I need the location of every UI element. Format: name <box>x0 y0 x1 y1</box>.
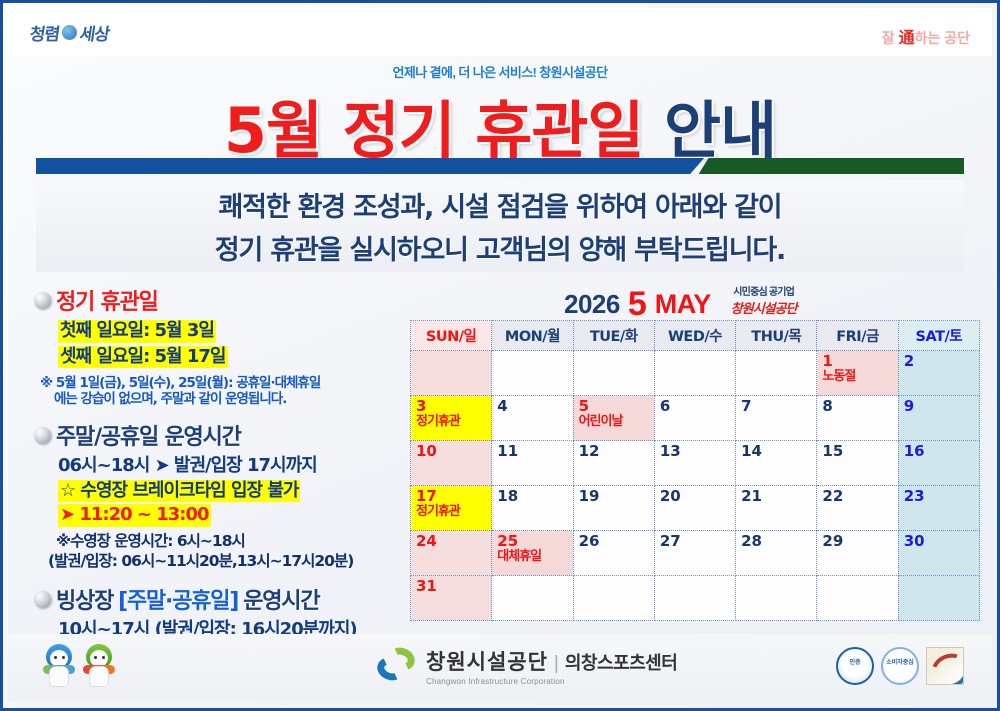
footer-org-name: 창원시설공단 <box>426 646 548 676</box>
section-regular-closure-heading-text: 정기 휴관일 <box>56 284 158 316</box>
footer-divider: | <box>554 653 559 675</box>
calendar-day-cell[interactable]: 13 <box>654 441 735 486</box>
calendar-day-cell[interactable]: 17정기휴관 <box>411 486 492 531</box>
calendar-day-cell[interactable] <box>573 576 654 621</box>
calendar-day-number: 14 <box>741 444 816 460</box>
closure-note: ※ 5월 1일(금), 5일(수), 25일(월): 공휴일·대체휴일 에는 강… <box>40 375 406 407</box>
sphere-bullet-icon <box>34 427 51 444</box>
footer-name-row: 창원시설공단 | 의창스포츠센터 <box>426 646 677 676</box>
calendar-month-name: MAY <box>655 289 711 320</box>
integrity-logo-left-text: 청렴 <box>28 20 61 45</box>
calendar-week-row: 1노동절2 <box>411 351 980 396</box>
calendar-day-number: 18 <box>497 489 572 505</box>
calendar-day-label: 대체휴일 <box>497 550 572 564</box>
closure-date-2: 셋째 일요일: 5월 17일 <box>58 346 228 369</box>
section-regular-closure: 정기 휴관일 첫째 일요일: 5월 3일 셋째 일요일: 5월 17일 ※ 5월… <box>34 284 406 407</box>
closure-date-2-text: 셋째 일요일: 5월 17일 <box>60 346 226 367</box>
ice-rink-heading-a: 빙상장 <box>56 583 113 615</box>
calendar-day-number: 16 <box>904 444 979 460</box>
ice-rink-heading-c: 운영시간 <box>243 583 319 615</box>
calendar-day-cell[interactable] <box>492 576 573 621</box>
calendar-day-cell[interactable]: 25대체휴일 <box>492 531 573 576</box>
calendar-logo-line-1: 시민중심 공기업 <box>731 283 797 298</box>
calendar-day-number: 22 <box>822 489 897 505</box>
sub-slogan: 언제나 곁에, 더 나은 서비스! 창원시설공단 <box>8 62 992 81</box>
calendar-day-cell[interactable]: 26 <box>573 531 654 576</box>
calendar-day-number: 24 <box>416 534 491 550</box>
calendar-header-day-3: WED/수 <box>654 321 735 351</box>
calendar-header-day-4: THU/목 <box>736 321 817 351</box>
certification-badge-1-icon: 인증 <box>836 647 874 685</box>
calendar-week-row: 31 <box>411 576 980 621</box>
calendar-month-number: 5 <box>628 288 647 320</box>
integrity-logo-dot-icon <box>62 25 77 40</box>
closure-note-line-1: ※ 5월 1일(금), 5일(수), 25일(월): 공휴일·대체휴일 <box>40 375 320 391</box>
calendar-day-label: 어린이날 <box>579 415 654 429</box>
calendar-day-cell[interactable]: 24 <box>411 531 492 576</box>
sphere-bullet-icon <box>34 591 51 608</box>
section-weekend-hours: 주말/공휴일 운영시간 06시~18시 ➤ 발권/입장 17시까지 ☆ 수영장 … <box>34 419 406 571</box>
poster-inner: 청렴 세상 잘 通하는 공단 언제나 곁에, 더 나은 서비스! 창원시설공단 … <box>8 8 992 703</box>
calendar-day-cell[interactable]: 27 <box>654 531 735 576</box>
calendar-day-number: 21 <box>741 489 816 505</box>
section-regular-closure-heading: 정기 휴관일 <box>34 284 406 316</box>
calendar-day-number: 31 <box>416 579 491 595</box>
calendar-day-number: 9 <box>904 399 979 415</box>
divider-green-segment <box>699 158 964 174</box>
calendar-day-cell[interactable] <box>736 576 817 621</box>
notice-message-line-2: 정기 휴관을 실시하오니 고객님의 양해 부탁드립니다. <box>215 228 785 267</box>
section-weekend-hours-heading-text: 주말/공휴일 운영시간 <box>56 419 241 451</box>
calendar-day-cell[interactable]: 1노동절 <box>817 351 898 396</box>
calendar-day-cell[interactable]: 31 <box>411 576 492 621</box>
closure-date-1-text: 첫째 일요일: 5월 3일 <box>60 320 214 341</box>
calendar-day-cell[interactable]: 16 <box>898 441 979 486</box>
calendar-week-row: 10111213141516 <box>411 441 980 486</box>
calendar-header-day-2: TUE/화 <box>573 321 654 351</box>
calendar-day-number: 19 <box>579 489 654 505</box>
certification-badges: 인증 소비자중심 <box>836 647 964 685</box>
footer-name-block: 창원시설공단 | 의창스포츠센터 Changwon Infrastructure… <box>426 646 677 686</box>
calendar-header-day-5: FRI/금 <box>817 321 898 351</box>
calendar-day-number: 7 <box>741 399 816 415</box>
footer-organization-logo: 창원시설공단 | 의창스포츠센터 Changwon Infrastructure… <box>376 646 677 686</box>
calendar-week-row: 17정기휴관181920212223 <box>411 486 980 531</box>
calendar-day-cell[interactable] <box>736 351 817 396</box>
calendar-day-number: 5 <box>579 399 654 415</box>
calendar-title: 2026 5 MAY 시민중심 공기업 창원시설공단 <box>410 284 980 320</box>
calendar-day-cell[interactable] <box>411 351 492 396</box>
calendar-day-number: 2 <box>904 354 979 370</box>
calendar-day-cell[interactable]: 28 <box>736 531 817 576</box>
calendar-day-number: 30 <box>904 534 979 550</box>
certification-badge-3-icon <box>926 647 964 685</box>
calendar-day-label: 정기휴관 <box>416 505 491 519</box>
calendar-day-number: 20 <box>660 489 735 505</box>
calendar-week-row: 3정기휴관45어린이날6789 <box>411 396 980 441</box>
integrity-logo: 청렴 세상 <box>30 20 110 45</box>
slogan-suffix: 하는 공단 <box>915 30 970 46</box>
calendar-day-cell[interactable]: 30 <box>898 531 979 576</box>
calendar-day-number: 23 <box>904 489 979 505</box>
calendar-day-cell[interactable]: 10 <box>411 441 492 486</box>
calendar-day-cell[interactable]: 23 <box>898 486 979 531</box>
calendar-day-cell[interactable]: 7 <box>736 396 817 441</box>
pool-break-notice-text: ☆ 수영장 브레이크타임 입장 불가 <box>60 480 298 501</box>
calendar-day-number: 3 <box>416 399 491 415</box>
closure-note-line-2: 에는 강습이 없으며, 주말과 같이 운영됩니다. <box>54 391 406 407</box>
calendar-day-number: 25 <box>497 534 572 550</box>
calendar-day-cell[interactable]: 18 <box>492 486 573 531</box>
calendar-day-number: 27 <box>660 534 735 550</box>
calendar-day-cell[interactable]: 3정기휴관 <box>411 396 492 441</box>
badge-1-text: 인증 <box>838 649 872 667</box>
calendar-day-cell[interactable] <box>654 576 735 621</box>
mascot-group <box>42 644 116 688</box>
corporate-slogan: 잘 通하는 공단 <box>882 24 970 48</box>
badge-2-text: 소비자중심 <box>883 649 917 667</box>
calendar-day-number: 26 <box>579 534 654 550</box>
calendar-corporate-logo: 시민중심 공기업 창원시설공단 <box>731 283 797 320</box>
calendar-logo-line-2: 창원시설공단 <box>731 298 797 317</box>
calendar-header-day-1: MON/월 <box>492 321 573 351</box>
pool-break-notice: ☆ 수영장 브레이크타임 입장 불가 <box>58 480 300 503</box>
divider-blue-segment <box>36 158 704 174</box>
pool-hours-line: ※수영장 운영시간: 6시~18시 <box>56 531 406 551</box>
calendar: 2026 5 MAY 시민중심 공기업 창원시설공단 SUN/일MON/월TUE… <box>410 284 980 621</box>
calendar-day-number: 29 <box>822 534 897 550</box>
pool-break-time-text: ➤ 11:20 ~ 13:00 <box>60 504 209 525</box>
calendar-day-cell[interactable] <box>817 576 898 621</box>
ice-rink-heading-b: [주말·공휴일] <box>118 583 238 615</box>
calendar-day-label: 정기휴관 <box>416 415 491 429</box>
closure-date-1: 첫째 일요일: 5월 3일 <box>58 320 216 343</box>
calendar-day-number: 10 <box>416 444 491 460</box>
top-bar: 청렴 세상 잘 通하는 공단 <box>8 8 992 56</box>
calendar-year: 2026 <box>564 289 620 320</box>
calendar-day-cell[interactable] <box>492 351 573 396</box>
mascot-blue-icon <box>42 644 76 688</box>
calendar-body: 1노동절23정기휴관45어린이날67891011121314151617정기휴관… <box>411 351 980 621</box>
calendar-day-cell[interactable]: 11 <box>492 441 573 486</box>
pool-ticket-line: (발권/입장: 06시~11시20분,13시~17시20분) <box>48 551 406 571</box>
notice-message: 쾌적한 환경 조성과, 시설 점검을 위하여 아래와 같이 정기 휴관을 실시하… <box>36 180 964 272</box>
calendar-day-cell[interactable] <box>898 576 979 621</box>
footer-org-name-english: Changwon Infrastructure Corporation <box>426 677 677 686</box>
section-ice-rink-heading: 빙상장[주말·공휴일] 운영시간 <box>34 583 406 615</box>
page-title: 5월 정기 휴관일 안내 <box>8 80 992 170</box>
left-info-column: 정기 휴관일 첫째 일요일: 5월 3일 셋째 일요일: 5월 17일 ※ 5월… <box>34 284 406 649</box>
slogan-hanja: 通 <box>899 30 915 47</box>
calendar-day-number: 12 <box>579 444 654 460</box>
footer-facility-name: 의창스포츠센터 <box>565 649 677 675</box>
calendar-day-cell[interactable]: 5어린이날 <box>573 396 654 441</box>
calendar-day-cell[interactable]: 4 <box>492 396 573 441</box>
calendar-header-row: SUN/일MON/월TUE/화WED/수THU/목FRI/금SAT/토 <box>411 321 980 351</box>
calendar-day-number: 11 <box>497 444 572 460</box>
page-title-navy: 안내 <box>664 94 776 167</box>
calendar-day-cell[interactable] <box>654 351 735 396</box>
footer: 창원시설공단 | 의창스포츠센터 Changwon Infrastructure… <box>8 634 992 700</box>
pool-break-time: ➤ 11:20 ~ 13:00 <box>58 504 211 527</box>
calendar-header-sun: SUN/일 <box>411 321 492 351</box>
calendar-day-cell[interactable]: 19 <box>573 486 654 531</box>
swirl-logo-icon <box>376 646 418 686</box>
section-ice-rink-hours: 빙상장[주말·공휴일] 운영시간 10시~17시 (발권/입장: 16시20분까… <box>34 583 406 642</box>
notice-message-line-1: 쾌적한 환경 조성과, 시설 점검을 위하여 아래와 같이 <box>219 185 782 224</box>
calendar-table: SUN/일MON/월TUE/화WED/수THU/목FRI/금SAT/토 1노동절… <box>410 320 980 621</box>
calendar-day-number: 13 <box>660 444 735 460</box>
calendar-day-cell[interactable]: 29 <box>817 531 898 576</box>
integrity-logo-right-text: 세상 <box>79 20 112 45</box>
calendar-day-cell[interactable]: 21 <box>736 486 817 531</box>
color-divider-bar <box>36 158 964 174</box>
calendar-day-number: 1 <box>822 354 897 370</box>
calendar-header-sat: SAT/토 <box>898 321 979 351</box>
calendar-day-cell[interactable]: 9 <box>898 396 979 441</box>
calendar-day-cell[interactable]: 8 <box>817 396 898 441</box>
certification-badge-2-icon: 소비자중심 <box>881 647 919 685</box>
page-title-red: 5월 정기 휴관일 <box>224 94 644 167</box>
calendar-day-cell[interactable]: 6 <box>654 396 735 441</box>
calendar-day-cell[interactable] <box>573 351 654 396</box>
calendar-day-cell[interactable]: 14 <box>736 441 817 486</box>
slogan-prefix: 잘 <box>882 30 899 46</box>
poster-root: 청렴 세상 잘 通하는 공단 언제나 곁에, 더 나은 서비스! 창원시설공단 … <box>0 0 1000 711</box>
section-weekend-hours-heading: 주말/공휴일 운영시간 <box>34 419 406 451</box>
calendar-day-number: 8 <box>822 399 897 415</box>
calendar-day-cell[interactable]: 20 <box>654 486 735 531</box>
calendar-day-cell[interactable]: 15 <box>817 441 898 486</box>
calendar-day-cell[interactable]: 2 <box>898 351 979 396</box>
calendar-day-label: 노동절 <box>822 370 897 384</box>
sphere-bullet-icon <box>34 292 51 309</box>
calendar-day-number: 6 <box>660 399 735 415</box>
calendar-day-number: 28 <box>741 534 816 550</box>
calendar-day-cell[interactable]: 12 <box>573 441 654 486</box>
calendar-day-cell[interactable]: 22 <box>817 486 898 531</box>
mascot-green-icon <box>82 644 116 688</box>
weekend-hours-line-1: 06시~18시 ➤ 발권/입장 17시까지 <box>58 455 406 478</box>
calendar-week-row: 2425대체휴일2627282930 <box>411 531 980 576</box>
calendar-day-number: 4 <box>497 399 572 415</box>
calendar-day-number: 17 <box>416 489 491 505</box>
calendar-day-number: 15 <box>822 444 897 460</box>
